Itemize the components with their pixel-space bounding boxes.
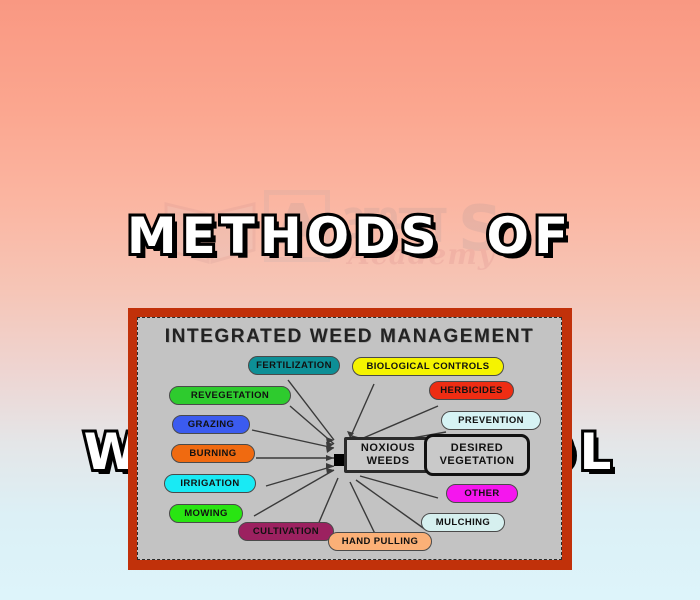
method-label: FERTILIZATION [256,360,332,371]
diagram-frame: INTEGRATED WEED MANAGEMENT [128,308,572,570]
method-label: GRAZING [188,419,235,430]
method-pill-irrigation[interactable]: IRRIGATION [164,474,256,493]
poster-canvas: A अभ्या S Academy METHODS OF WEED CONTRO… [0,0,700,600]
method-label: BURNING [189,448,236,459]
method-label: MULCHING [436,517,490,528]
center-node-noxious-weeds[interactable]: NOXIOUS WEEDS [344,437,432,473]
method-pill-other[interactable]: OTHER [446,484,518,503]
method-pill-burning[interactable]: BURNING [171,444,255,463]
method-pill-grazing[interactable]: GRAZING [172,415,250,434]
method-label: REVEGETATION [191,390,269,401]
diagram-canvas: INTEGRATED WEED MANAGEMENT [137,317,562,560]
method-label: PREVENTION [458,415,524,426]
method-pill-herbicides[interactable]: HERBICIDES [429,381,514,400]
method-pill-mulching[interactable]: MULCHING [421,513,505,532]
method-pill-cultivation[interactable]: CULTIVATION [238,522,334,541]
method-label: MOWING [184,508,228,519]
method-label: OTHER [464,488,499,499]
outcome-node-line-2: VEGETATION [440,455,515,468]
outcome-node-line-1: DESIRED [451,442,503,455]
center-node-line-2: WEEDS [367,455,410,468]
method-pill-mowing[interactable]: MOWING [169,504,243,523]
outcome-node-desired-vegetation[interactable]: DESIRED VEGETATION [424,434,530,476]
method-label: HAND PULLING [342,536,419,547]
center-node-line-1: NOXIOUS [361,442,415,455]
method-pill-prevention[interactable]: PREVENTION [441,411,541,430]
method-label: BIOLOGICAL CONTROLS [366,361,489,372]
method-pill-biological-controls[interactable]: BIOLOGICAL CONTROLS [352,357,504,376]
method-label: IRRIGATION [180,478,239,489]
method-pill-hand-pulling[interactable]: HAND PULLING [328,532,432,551]
method-pill-fertilization[interactable]: FERTILIZATION [248,356,340,375]
method-pill-revegetation[interactable]: REVEGETATION [169,386,291,405]
page-title-line-1: METHODS OF [0,200,700,272]
method-label: CULTIVATION [253,526,319,537]
method-label: HERBICIDES [440,385,503,396]
